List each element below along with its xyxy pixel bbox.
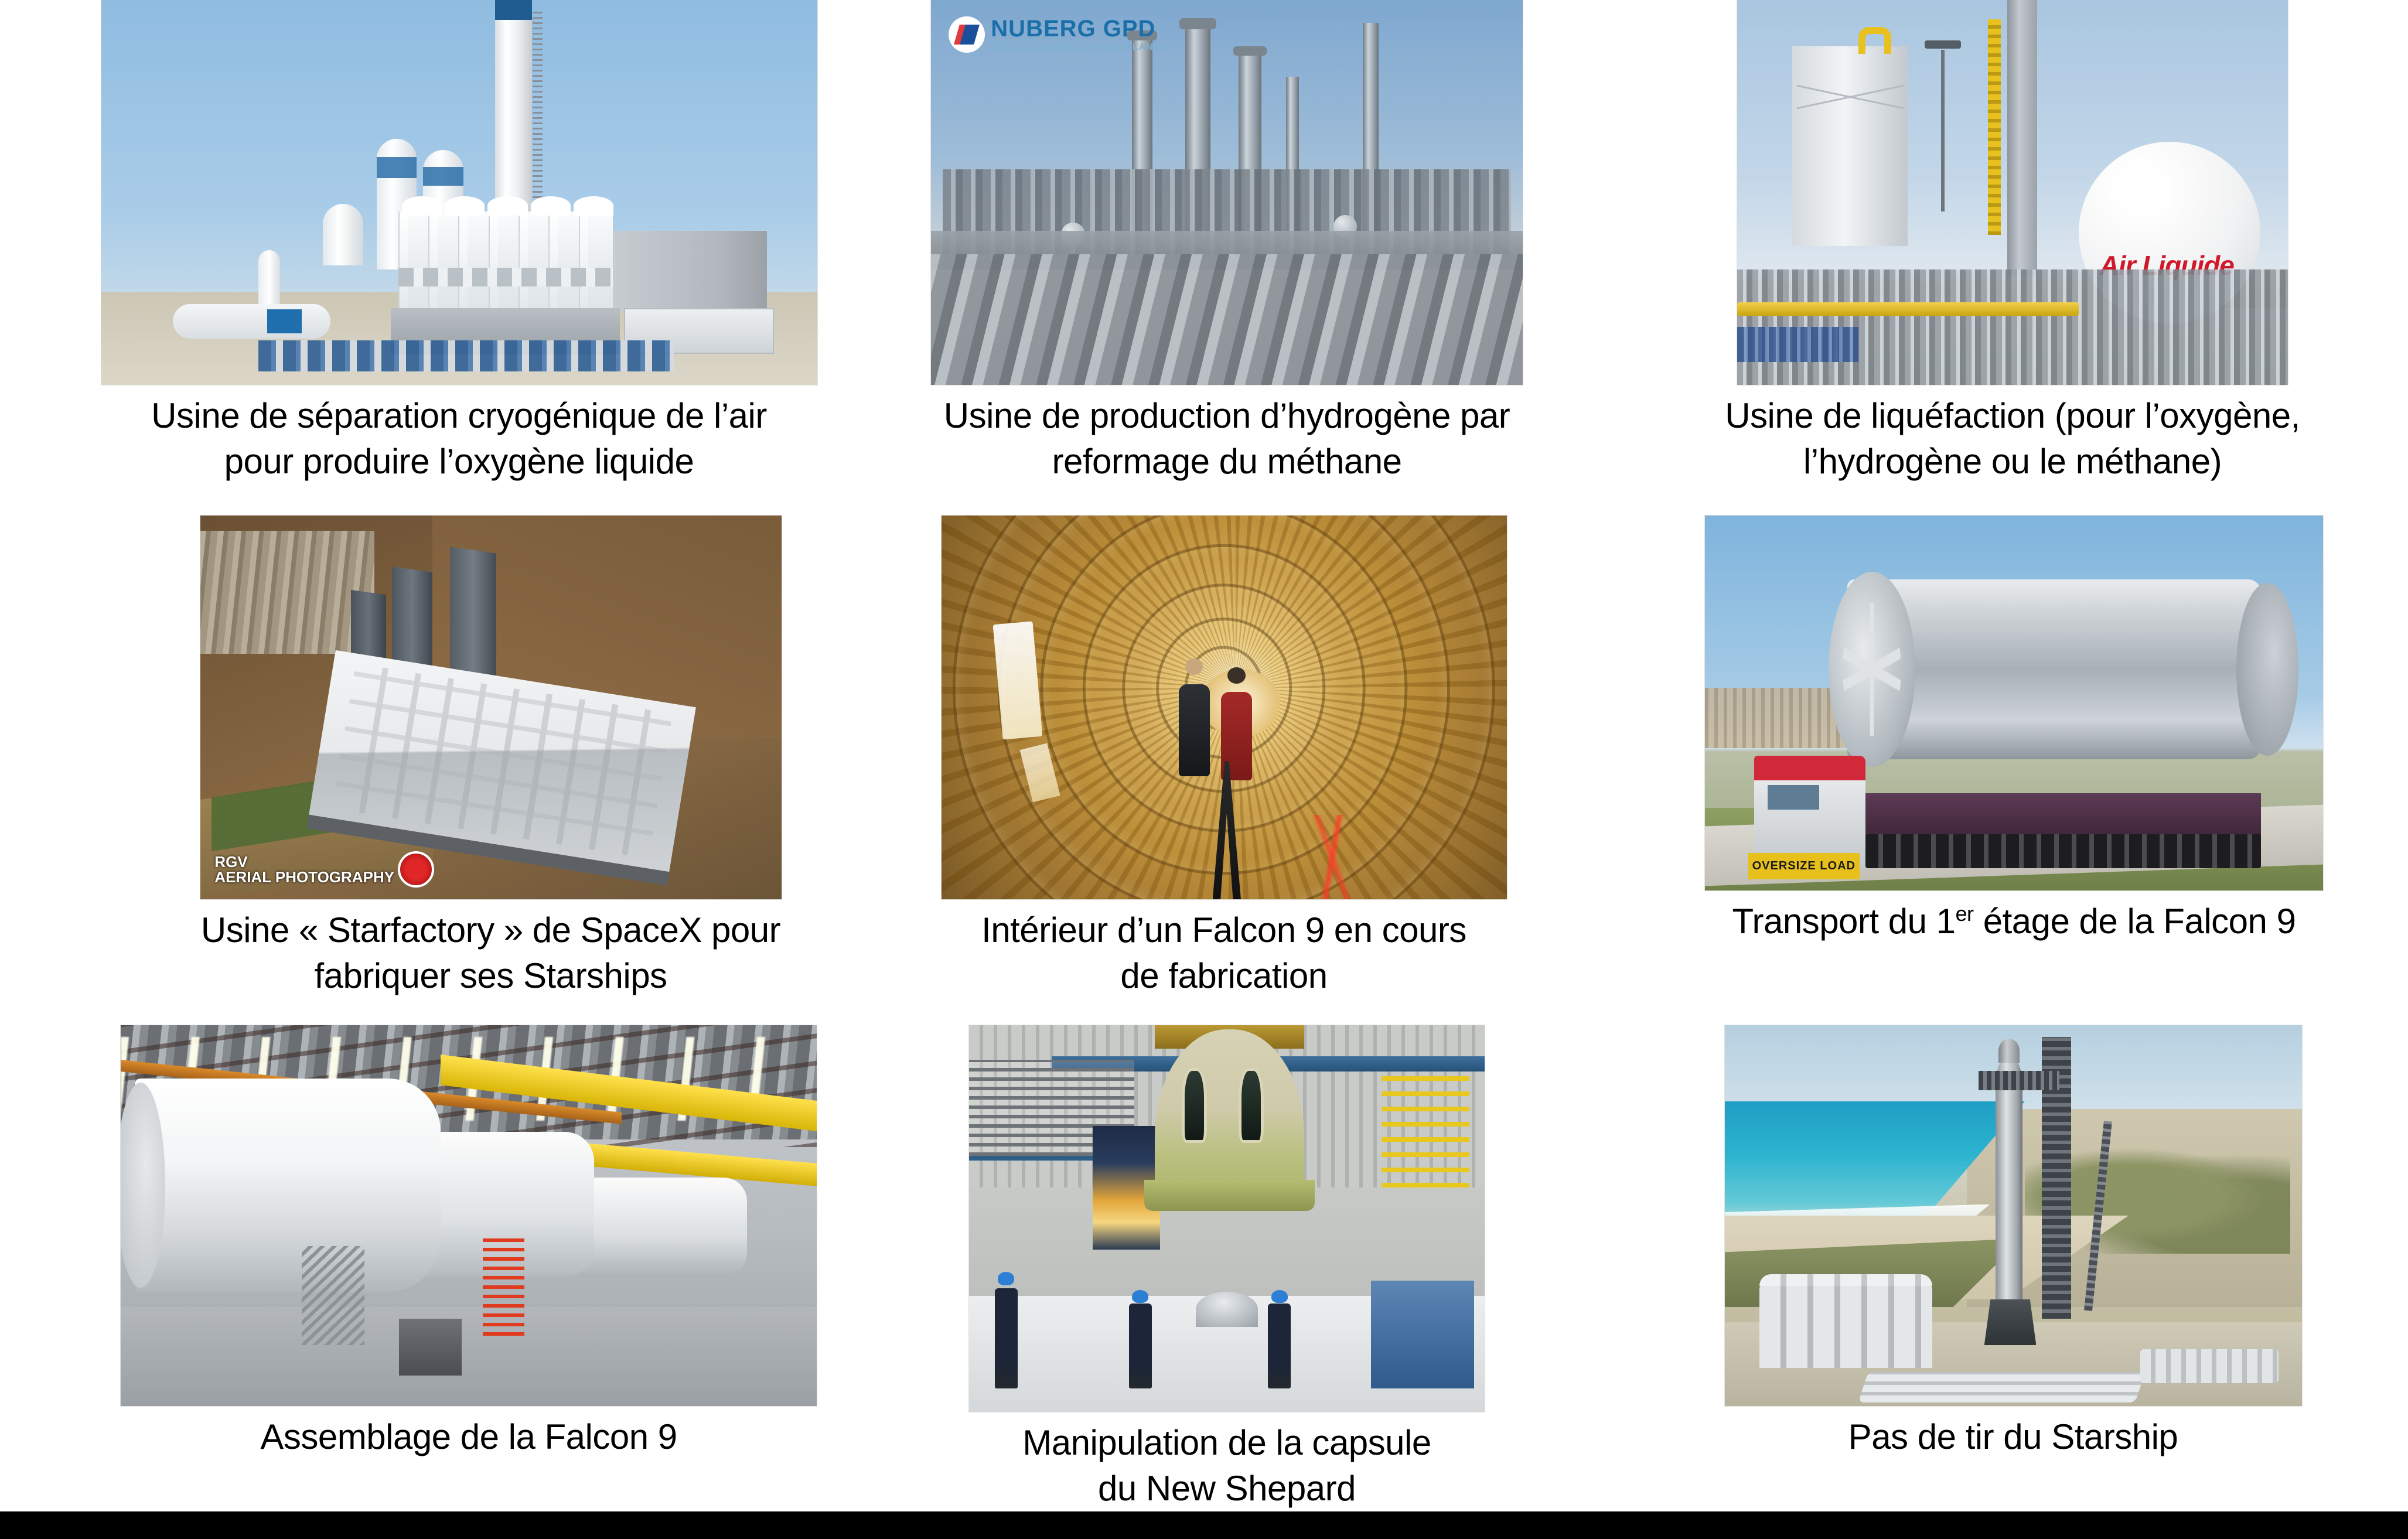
cell-cryogenic-air-separation: Usine de séparation cryogénique de l’air… [0, 0, 826, 516]
trailer-wheels [1865, 834, 2261, 868]
photo-liquefaction-plant: Air Liquide [1737, 0, 2288, 385]
hood-2 [445, 196, 485, 216]
photo-starship-launch-pad [1725, 1025, 2302, 1406]
drum-row [258, 340, 674, 371]
cell-starship-launch-pad: Pas de tir du Starship [1611, 1025, 2408, 1511]
starship-vehicle [1996, 1056, 2022, 1299]
cell-falcon9-interior: Intérieur d’un Falcon 9 en cours de fabr… [826, 516, 1611, 1025]
technician-dark [1179, 684, 1210, 776]
launch-mount [1984, 1299, 2037, 1345]
photo-grid: Usine de séparation cryogénique de l’air… [0, 0, 2408, 1511]
caption-falcon9-transport: Transport du 1er étage de la Falcon 9 [1620, 890, 2408, 944]
tower-arm [1979, 1071, 2059, 1090]
window-band [398, 268, 613, 287]
photo-falcon9-interior [942, 516, 1507, 899]
nuberg-mark-icon [949, 16, 985, 53]
rgv-watermark: RGV AERIAL PHOTOGRAPHY [214, 851, 434, 888]
caption-superscript: er [1956, 902, 1974, 926]
slide-root: Usine de séparation cryogénique de l’air… [0, 0, 2408, 1539]
photo-falcon9-assembly [121, 1025, 817, 1406]
cell-falcon9-transport: OVERSIZE LOAD Transport du 1er étage de … [1611, 516, 2408, 1025]
caption-new-shepard-capsule: Manipulation de la capsule du New Shepar… [843, 1412, 1611, 1511]
caption-hydrogen-smr-plant: Usine de production d’hydrogène par refo… [843, 385, 1611, 484]
caption-spacex-starfactory: Usine « Starfactory » de SpaceX pour fab… [155, 899, 826, 999]
laser-beams [1224, 815, 1450, 899]
pipe-rack [931, 254, 1523, 385]
capsule-skirt [1144, 1180, 1314, 1211]
oversize-load-sign: OVERSIZE LOAD [1748, 853, 1860, 879]
caption-falcon9-assembly: Assemblage de la Falcon 9 [111, 1406, 826, 1460]
ground-support-tanks [2140, 1349, 2279, 1384]
camera-shutter-icon [398, 851, 434, 888]
hood-3 [487, 196, 527, 216]
hood-1 [402, 196, 442, 216]
grey-stack [2007, 0, 2038, 277]
yellow-pipe [1737, 302, 2079, 316]
blue-pipe-group [1737, 327, 1858, 361]
tractor-truck [1754, 756, 1865, 868]
yellow-platform [1382, 1072, 1469, 1187]
worker-2 [1129, 1303, 1152, 1388]
rocket-stage-1 [135, 1079, 441, 1292]
coldbox-structure [1792, 46, 1908, 247]
cell-falcon9-assembly: Assemblage de la Falcon 9 [0, 1025, 826, 1511]
worker-3 [1268, 1303, 1291, 1388]
octaweb-end [1829, 572, 1915, 767]
work-stairs [302, 1246, 364, 1345]
hangar-floor [121, 1307, 817, 1406]
red-ladder [483, 1238, 524, 1337]
nuberg-gpd-logo: NUBERG GPD TRUSTED NAME FOR GAS PLANTS [949, 15, 1167, 54]
transporter-trailer [1853, 793, 2261, 838]
hood-5 [574, 196, 613, 216]
blue-equipment-cabinet [1371, 1281, 1474, 1389]
horizontal-tanks [1858, 1372, 2145, 1402]
high-bay-2 [450, 547, 496, 684]
photo-hydrogen-smr-plant: NUBERG GPD TRUSTED NAME FOR GAS PLANTS [931, 0, 1523, 385]
photo-new-shepard-capsule [969, 1025, 1485, 1412]
yellow-ladder [1988, 19, 2001, 235]
cryogenic-tank-farm [1759, 1284, 1933, 1368]
vertical-tank [258, 250, 280, 304]
small-column [323, 204, 363, 265]
hood-4 [531, 196, 571, 216]
photo-cryogenic-air-separation [101, 0, 817, 385]
flood-light-mast [1941, 50, 1945, 211]
process-building [602, 231, 767, 312]
interstage-end [2236, 583, 2298, 755]
rgv-watermark-sub: AERIAL PHOTOGRAPHY [214, 868, 394, 886]
footer-bar [0, 1511, 2408, 1539]
cell-hydrogen-smr-plant: NUBERG GPD TRUSTED NAME FOR GAS PLANTS U… [826, 0, 1611, 516]
cell-new-shepard-capsule: Manipulation de la capsule du New Shepar… [826, 1025, 1611, 1511]
yellow-hook-pipe [1858, 27, 1891, 54]
worker-1 [995, 1288, 1018, 1389]
pressure-dome [1196, 1292, 1258, 1326]
industrial-yard [200, 531, 375, 654]
coldbox-assembly [398, 211, 613, 312]
caption-liquefaction-plant: Usine de liquéfaction (pour l’oxygène, l… [1617, 385, 2408, 484]
photo-spacex-starfactory: RGV AERIAL PHOTOGRAPHY [200, 516, 782, 899]
tool-cart [399, 1319, 462, 1376]
nuberg-logo-text: NUBERG GPD [991, 16, 1155, 42]
cell-liquefaction-plant: Air Liquide Usine de liquéfaction (pour … [1611, 0, 2408, 516]
caption-cryogenic-air-separation: Usine de séparation cryogénique de l’air… [92, 385, 826, 484]
photo-falcon9-transport: OVERSIZE LOAD [1705, 516, 2323, 890]
caption-falcon9-interior: Intérieur d’un Falcon 9 en cours de fabr… [837, 899, 1611, 999]
nuberg-logo-tagline: TRUSTED NAME FOR GAS PLANTS [991, 43, 1167, 52]
cell-spacex-starfactory: RGV AERIAL PHOTOGRAPHY Usine « Starfacto… [0, 516, 826, 1025]
horizontal-storage-tank [173, 304, 330, 339]
caption-starship-launch-pad: Pas de tir du Starship [1618, 1406, 2408, 1460]
